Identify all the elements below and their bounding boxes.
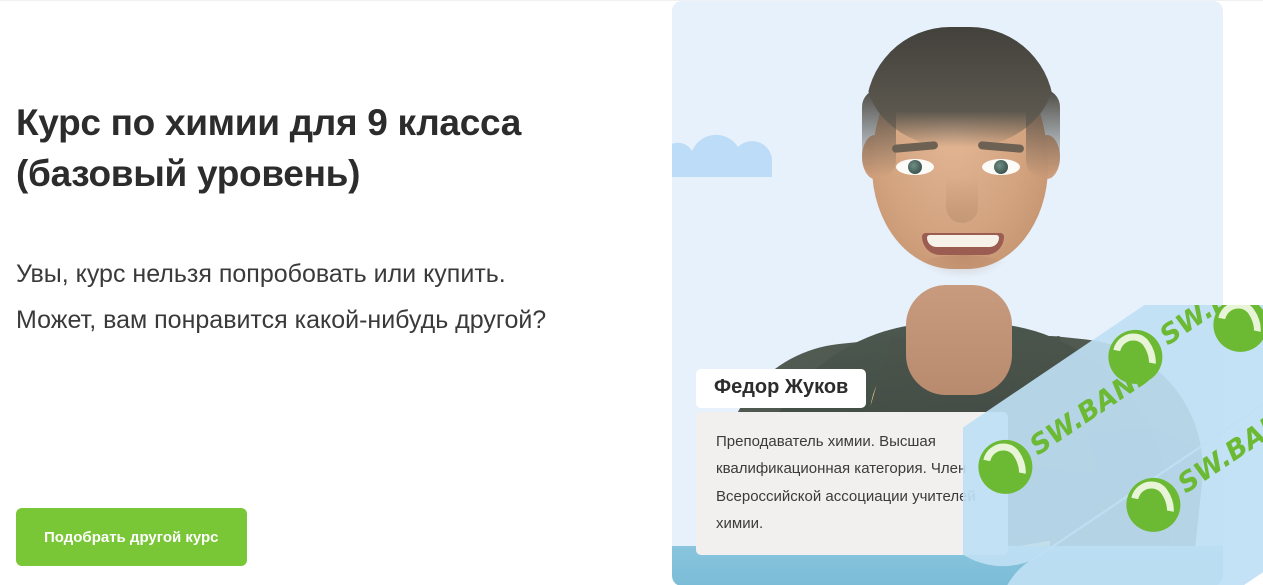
page-title: Курс по химии для 9 класса (базовый уров…: [16, 97, 616, 199]
eye-right: [982, 159, 1020, 175]
teacher-description-card: Преподаватель химии. Высшая квалификацио…: [696, 412, 1008, 555]
watermark-label: SW.BAND: [1259, 305, 1263, 319]
teeth: [927, 235, 999, 247]
eye-left: [896, 159, 934, 175]
neck: [906, 285, 1012, 395]
teacher-description-text: Преподаватель химии. Высшая квалификацио…: [716, 428, 988, 537]
iris-left: [908, 160, 922, 174]
course-info-column: Курс по химии для 9 класса (базовый уров…: [0, 1, 660, 585]
note-line-1: Увы, курс нельзя попробовать или купить.: [16, 251, 596, 297]
choose-another-course-button[interactable]: Подобрать другой курс: [16, 508, 247, 566]
mouth: [922, 233, 1004, 255]
teacher-name-badge: Федор Жуков: [696, 369, 866, 408]
chin-shadow: [918, 255, 1008, 279]
nose: [946, 177, 978, 223]
iris-right: [994, 160, 1008, 174]
course-page: Курс по химии для 9 класса (базовый уров…: [0, 0, 1263, 585]
course-unavailable-note: Увы, курс нельзя попробовать или купить.…: [16, 251, 596, 343]
note-line-2: Может, вам понравится какой-нибудь друго…: [16, 297, 596, 343]
